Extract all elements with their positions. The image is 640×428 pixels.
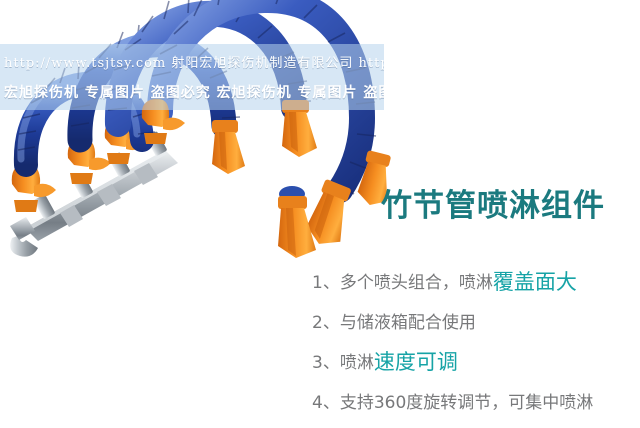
feature-item-4: 4、支持360度旋转调节，可集中喷淋 <box>312 392 640 413</box>
feature-text-4: 支持360度旋转调节，可集中喷淋 <box>340 393 593 413</box>
feature-list: 1、多个喷头组合，喷淋覆盖面大 2、与储液箱配合使用 3、喷淋速度可调 4、支持… <box>312 272 640 413</box>
product-title: 竹节管喷淋组件 <box>381 189 636 225</box>
feature-highlight-3: 速度可调 <box>374 350 458 374</box>
title-block: 竹节管喷淋组件 <box>381 189 636 225</box>
coolant-hose-assembly-illustration <box>0 0 400 262</box>
feature-index-3: 3、 <box>312 353 340 373</box>
feature-index-2: 2、 <box>312 313 340 333</box>
feature-index-1: 1、 <box>312 273 340 293</box>
feature-item-1: 1、多个喷头组合，喷淋覆盖面大 <box>312 272 640 293</box>
feature-highlight-1: 覆盖面大 <box>493 270 577 294</box>
feature-item-3: 3、喷淋速度可调 <box>312 352 640 373</box>
feature-text-1: 多个喷头组合，喷淋 <box>340 273 493 293</box>
feature-index-4: 4、 <box>312 393 340 413</box>
product-photo <box>0 0 400 262</box>
feature-text-3: 喷淋 <box>340 353 374 373</box>
product-promo-image: http://www.tsjtsy.com 射阳宏旭探伤机制造有限公司 http… <box>0 0 640 428</box>
feature-item-2: 2、与储液箱配合使用 <box>312 312 640 333</box>
feature-text-2: 与储液箱配合使用 <box>340 313 476 333</box>
